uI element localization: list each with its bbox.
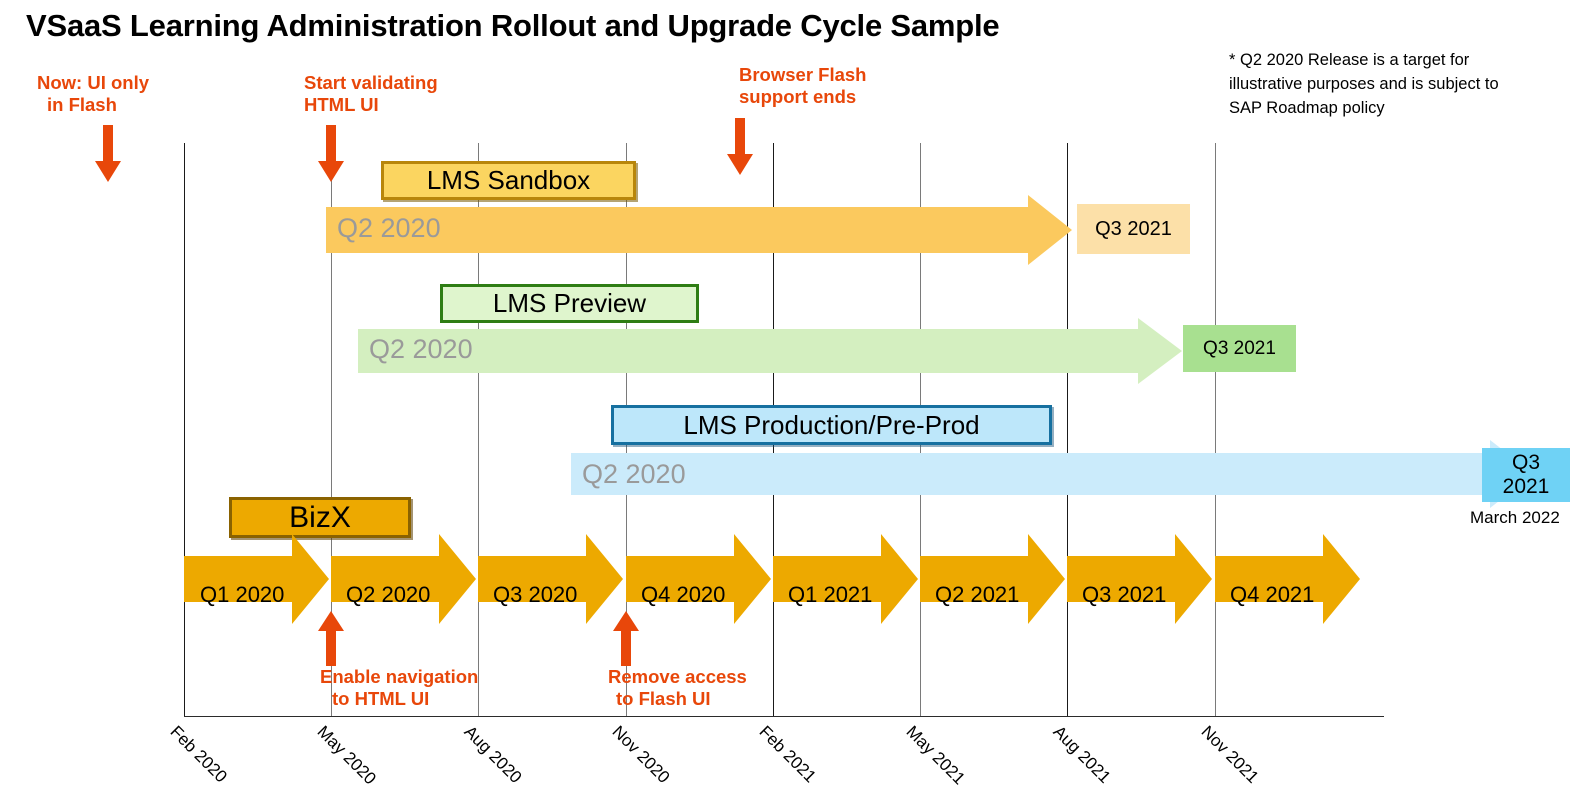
callout-enable-navigation: Enable navigation to HTML UI <box>320 666 478 710</box>
endbox-lms-production-note: March 2022 <box>1470 508 1560 528</box>
gridline-nov-2021 <box>1215 143 1216 716</box>
chip-lms-sandbox-label: LMS Sandbox <box>427 165 590 196</box>
quarter-label-q3-2020: Q3 2020 <box>493 582 577 608</box>
axis-tick-feb-2021: Feb 2021 <box>755 722 820 787</box>
axis-tick-nov-2021: Nov 2021 <box>1197 722 1263 788</box>
callout-now-flash-line2: in Flash <box>37 94 149 116</box>
axis-tick-nov-2020: Nov 2020 <box>608 722 674 788</box>
axis-tick-feb-2020: Feb 2020 <box>166 722 231 787</box>
axis-tick-may-2021: May 2021 <box>902 722 969 789</box>
chip-lms-production-label: LMS Production/Pre-Prod <box>683 410 979 441</box>
quarter-label-q1-2021: Q1 2021 <box>788 582 872 608</box>
callout-now-flash: Now: UI only in Flash <box>37 72 149 116</box>
band-lms-sandbox-start-label: Q2 2020 <box>337 213 441 244</box>
callout-remove-access-line2: to Flash UI <box>608 688 747 710</box>
quarter-label-q4-2021: Q4 2021 <box>1230 582 1314 608</box>
callout-browser-flash: Browser Flash support ends <box>739 64 867 108</box>
endbox-lms-sandbox-label: Q3 2021 <box>1095 218 1172 240</box>
footnote-text: * Q2 2020 Release is a target for illust… <box>1229 49 1529 121</box>
quarter-label-q2-2020: Q2 2020 <box>346 582 430 608</box>
callout-browser-flash-line2: support ends <box>739 86 867 108</box>
callout-enable-navigation-line2: to HTML UI <box>320 688 478 710</box>
band-lms-production-start-label: Q2 2020 <box>582 459 686 490</box>
callout-remove-access-line1: Remove access <box>608 666 747 688</box>
timeline-axis <box>184 716 1384 717</box>
endbox-lms-production-line1: Q3 <box>1512 451 1540 475</box>
callout-start-validating-line2: HTML UI <box>304 94 438 116</box>
band-lms-preview-start-label: Q2 2020 <box>369 334 473 365</box>
callout-remove-access: Remove access to Flash UI <box>608 666 747 710</box>
endbox-lms-preview: Q3 2021 <box>1183 325 1296 372</box>
quarter-label-q4-2020: Q4 2020 <box>641 582 725 608</box>
chip-lms-preview-label: LMS Preview <box>493 288 646 319</box>
endbox-lms-production: Q3 2021 <box>1482 448 1570 502</box>
marker-arrow-start-validating <box>318 125 344 182</box>
callout-start-validating: Start validating HTML UI <box>304 72 438 116</box>
quarter-label-q2-2021: Q2 2021 <box>935 582 1019 608</box>
callout-enable-navigation-line1: Enable navigation <box>320 666 478 688</box>
axis-tick-may-2020: May 2020 <box>313 722 380 789</box>
callout-start-validating-line1: Start validating <box>304 72 438 94</box>
chip-bizx-label: BizX <box>289 501 351 535</box>
chip-bizx: BizX <box>229 497 411 538</box>
page-title: VSaaS Learning Administration Rollout an… <box>26 8 999 44</box>
marker-arrow-enable-navigation <box>318 611 344 666</box>
endbox-lms-preview-label: Q3 2021 <box>1203 338 1276 359</box>
endbox-lms-production-line2: 2021 <box>1503 475 1550 499</box>
marker-arrow-browser-flash <box>727 118 753 175</box>
axis-tick-aug-2021: Aug 2021 <box>1049 722 1115 788</box>
band-lms-production <box>571 440 1534 513</box>
gridline-feb-2020 <box>184 143 185 716</box>
endbox-lms-sandbox: Q3 2021 <box>1077 204 1190 254</box>
quarter-label-q1-2020: Q1 2020 <box>200 582 284 608</box>
chip-lms-production: LMS Production/Pre-Prod <box>611 405 1052 445</box>
marker-arrow-remove-access <box>613 611 639 666</box>
quarter-label-q3-2021: Q3 2021 <box>1082 582 1166 608</box>
band-lms-preview <box>358 318 1182 389</box>
callout-browser-flash-line1: Browser Flash <box>739 64 867 86</box>
axis-tick-aug-2020: Aug 2020 <box>460 722 526 788</box>
timeline-diagram: VSaaS Learning Administration Rollout an… <box>0 0 1579 805</box>
marker-arrow-now-flash <box>95 125 121 182</box>
callout-now-flash-line1: Now: UI only <box>37 72 149 94</box>
